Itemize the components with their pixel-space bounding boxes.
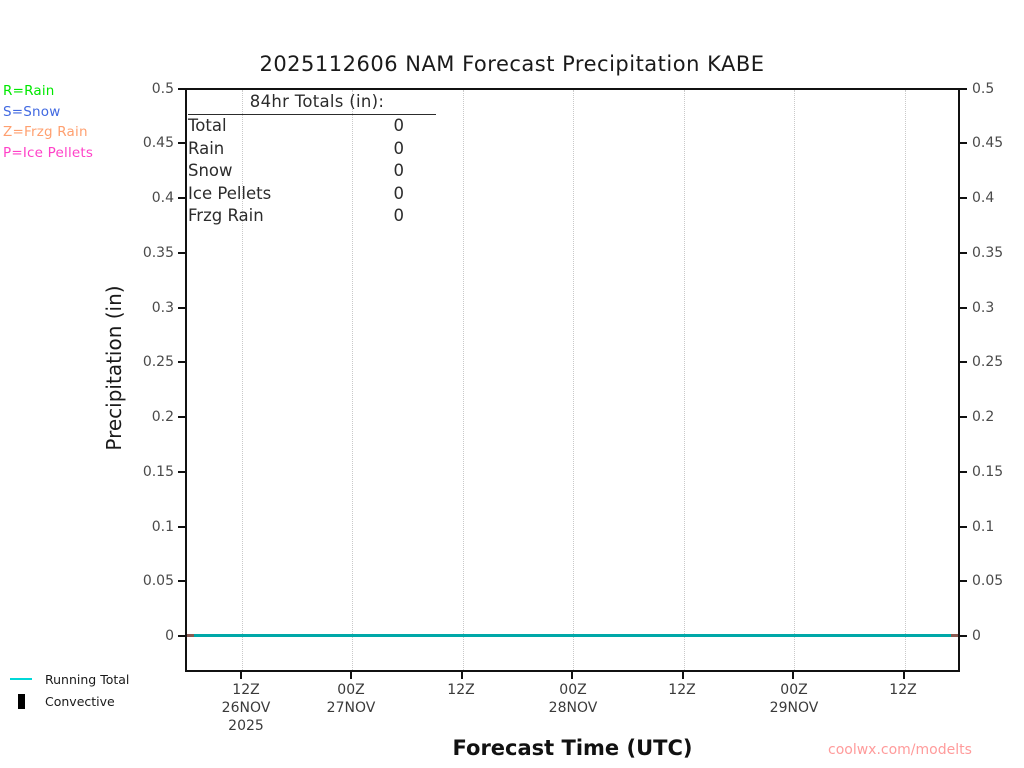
- ytick-mark-left: [178, 471, 185, 473]
- ytick-mark-left: [178, 361, 185, 363]
- xtick-label-date: 27NOV: [291, 699, 411, 717]
- xtick-label-date: 26NOV: [186, 699, 306, 717]
- ytick-mark-right: [960, 416, 967, 418]
- ytick-label-right: 0.35: [972, 245, 1003, 261]
- ytick-label-right: 0.4: [972, 190, 994, 206]
- totals-value: 0: [394, 205, 437, 228]
- ytick-mark-right: [960, 580, 967, 582]
- xtick-label-time: 00Z: [291, 681, 411, 699]
- xtick-label-group: 00Z 28NOV: [513, 681, 633, 717]
- xtick-label-time: 12Z: [843, 681, 963, 699]
- totals-row-ice-pellets: Ice Pellets 0: [188, 183, 436, 206]
- totals-value: 0: [394, 160, 437, 183]
- legend-item-running-total: Running Total: [10, 668, 129, 690]
- xtick-label-time: 12Z: [186, 681, 306, 699]
- line-swatch-icon: [10, 678, 32, 680]
- totals-label: Total: [188, 115, 227, 138]
- totals-box: 84hr Totals (in): Total 0 Rain 0 Snow 0 …: [188, 92, 436, 228]
- totals-row-rain: Rain 0: [188, 138, 436, 161]
- ytick-mark-right: [960, 197, 967, 199]
- ytick-label-left: 0.2: [128, 409, 174, 425]
- totals-label: Snow: [188, 160, 233, 183]
- ytick-mark-left: [178, 252, 185, 254]
- xtick-label-time: 12Z: [622, 681, 742, 699]
- totals-value: 0: [394, 183, 437, 206]
- xtick-label-group: 00Z 29NOV: [734, 681, 854, 717]
- ytick-mark-left: [178, 635, 185, 637]
- ytick-label-right: 0.45: [972, 135, 1003, 151]
- ytick-mark-right: [960, 471, 967, 473]
- gridline-vertical: [794, 90, 795, 670]
- totals-label: Ice Pellets: [188, 183, 271, 206]
- xtick-label-time: 12Z: [401, 681, 521, 699]
- gridline-vertical: [463, 90, 464, 670]
- xtick-label-group: 12Z: [622, 681, 742, 699]
- bar-swatch-icon: [18, 694, 25, 709]
- ytick-mark-right: [960, 142, 967, 144]
- ytick-label-left: 0.15: [128, 464, 174, 480]
- xtick-label-group: 12Z: [843, 681, 963, 699]
- xtick-mark: [240, 672, 242, 679]
- legend-label: Running Total: [45, 672, 129, 687]
- ytick-mark-right: [960, 307, 967, 309]
- ytick-mark-right: [960, 361, 967, 363]
- totals-row-snow: Snow 0: [188, 160, 436, 183]
- ytick-label-left: 0.3: [128, 300, 174, 316]
- ytick-label-right: 0: [972, 628, 981, 644]
- totals-row-frzg-rain: Frzg Rain 0: [188, 205, 436, 228]
- xtick-label-date: 28NOV: [513, 699, 633, 717]
- ytick-label-right: 0.5: [972, 81, 994, 97]
- totals-label: Frzg Rain: [188, 205, 264, 228]
- series-start-cap: [187, 634, 194, 637]
- ytick-label-left: 0.35: [128, 245, 174, 261]
- ytick-mark-left: [178, 197, 185, 199]
- xtick-mark: [350, 672, 352, 679]
- ytick-mark-right: [960, 252, 967, 254]
- xtick-mark: [792, 672, 794, 679]
- ytick-mark-left: [178, 526, 185, 528]
- ytick-mark-left: [178, 142, 185, 144]
- xtick-mark: [461, 672, 463, 679]
- ytick-mark-left: [178, 88, 185, 90]
- xtick-label-date: 29NOV: [734, 699, 854, 717]
- ptype-legend-item-frzg-rain: Z=Frzg Rain: [3, 122, 93, 143]
- xtick-label-group: 00Z 27NOV: [291, 681, 411, 717]
- ptype-legend-item-ice-pellets: P=Ice Pellets: [3, 143, 93, 164]
- gridline-vertical: [573, 90, 574, 670]
- totals-value: 0: [394, 115, 437, 138]
- totals-row-total: Total 0: [188, 115, 436, 138]
- ytick-label-right: 0.15: [972, 464, 1003, 480]
- totals-value: 0: [394, 138, 437, 161]
- xtick-label-year: 2025: [186, 717, 306, 735]
- page-title: 2025112606 NAM Forecast Precipitation KA…: [0, 52, 1024, 76]
- totals-heading: 84hr Totals (in):: [188, 92, 436, 115]
- ytick-label-left: 0.4: [128, 190, 174, 206]
- precip-type-legend: R=Rain S=Snow Z=Frzg Rain P=Ice Pellets: [3, 81, 93, 163]
- series-end-cap: [951, 634, 958, 637]
- ytick-label-right: 0.3: [972, 300, 994, 316]
- ytick-label-left: 0.1: [128, 519, 174, 535]
- ytick-label-right: 0.05: [972, 573, 1003, 589]
- xtick-label-group: 12Z 26NOV 2025: [186, 681, 306, 735]
- ytick-label-left: 0.05: [128, 573, 174, 589]
- ytick-mark-right: [960, 635, 967, 637]
- ytick-mark-left: [178, 416, 185, 418]
- ytick-mark-right: [960, 526, 967, 528]
- xtick-label-time: 00Z: [734, 681, 854, 699]
- gridline-vertical: [905, 90, 906, 670]
- series-running-total-line: [187, 634, 958, 637]
- ytick-label-right: 0.25: [972, 354, 1003, 370]
- ytick-mark-left: [178, 307, 185, 309]
- y-axis-title: Precipitation (in): [102, 238, 126, 498]
- xtick-mark: [682, 672, 684, 679]
- legend-label: Convective: [45, 694, 115, 709]
- watermark: coolwx.com/modelts: [828, 742, 972, 758]
- ytick-label-left: 0.45: [128, 135, 174, 151]
- ytick-label-left: 0.5: [128, 81, 174, 97]
- ytick-label-left: 0.25: [128, 354, 174, 370]
- ytick-label-right: 0.1: [972, 519, 994, 535]
- xtick-label-group: 12Z: [401, 681, 521, 699]
- xtick-label-time: 00Z: [513, 681, 633, 699]
- xtick-mark: [903, 672, 905, 679]
- ptype-legend-item-rain: R=Rain: [3, 81, 93, 102]
- gridline-vertical: [684, 90, 685, 670]
- legend-item-convective: Convective: [10, 690, 129, 712]
- ytick-mark-right: [960, 88, 967, 90]
- ptype-legend-item-snow: S=Snow: [3, 102, 93, 123]
- series-legend: Running Total Convective: [10, 668, 129, 712]
- ytick-label-right: 0.2: [972, 409, 994, 425]
- xtick-mark: [571, 672, 573, 679]
- ytick-mark-left: [178, 580, 185, 582]
- totals-label: Rain: [188, 138, 224, 161]
- ytick-label-left: 0: [128, 628, 174, 644]
